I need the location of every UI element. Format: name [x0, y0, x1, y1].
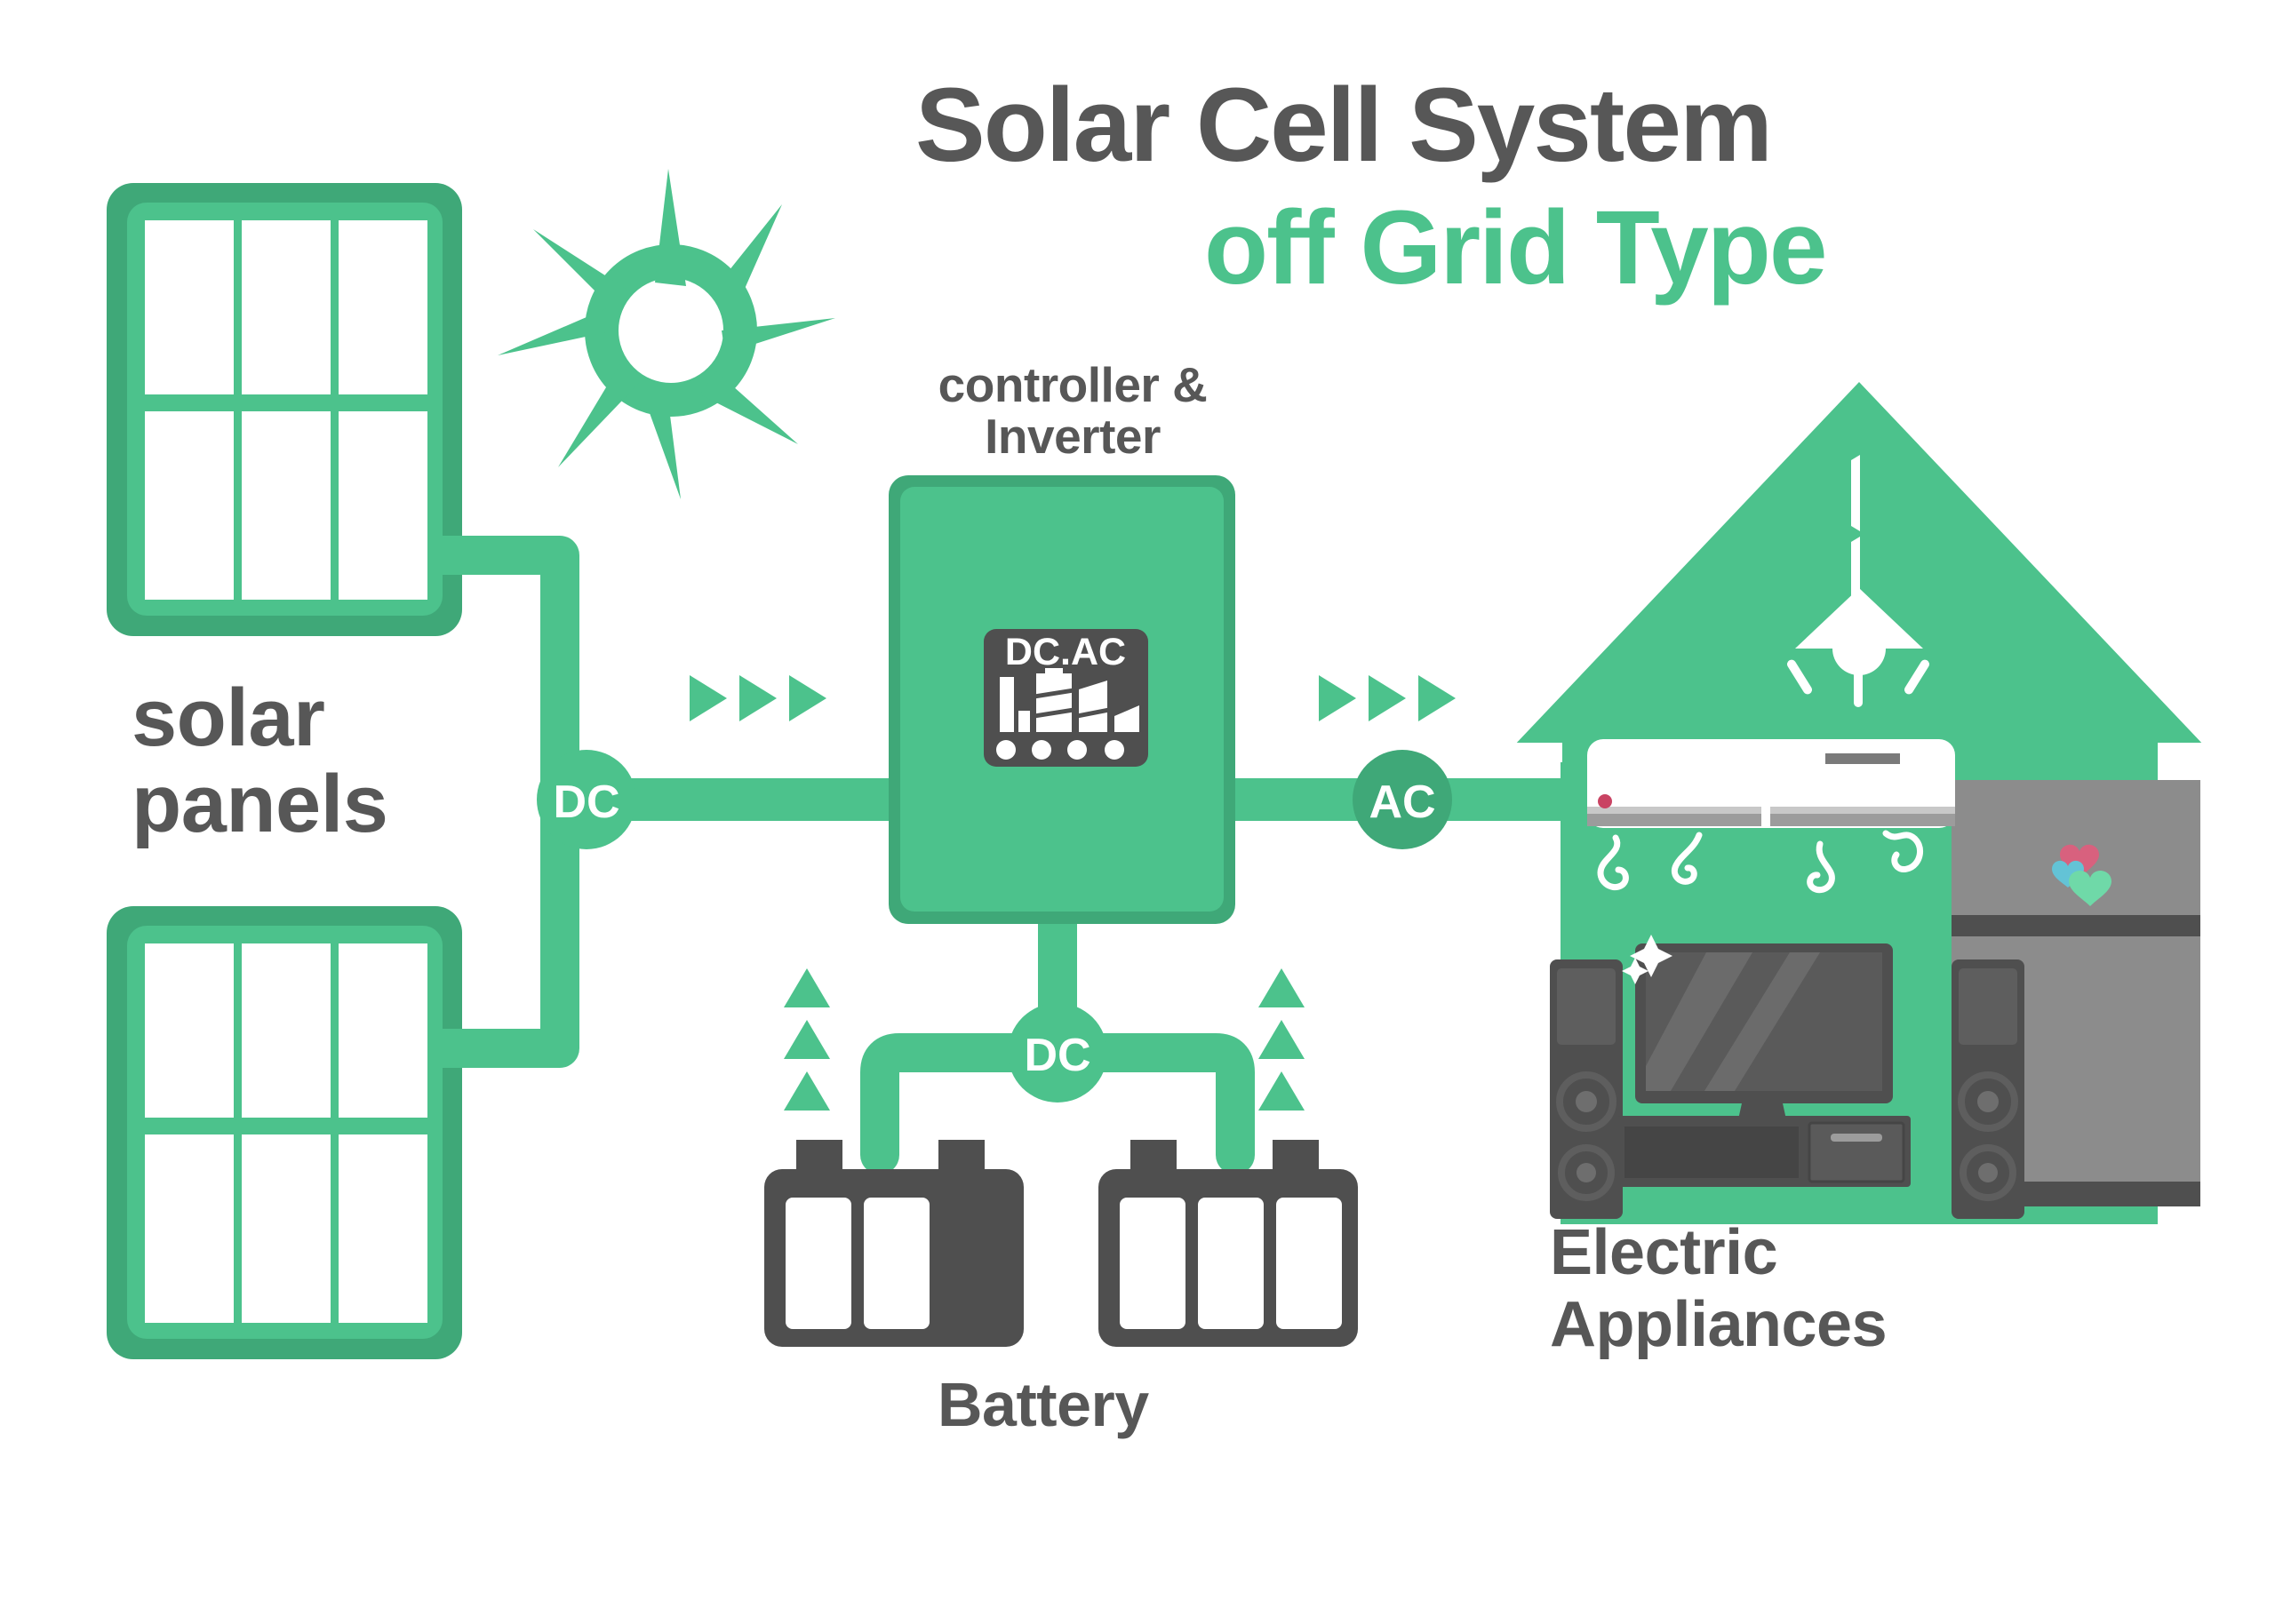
- speaker-icon-right[interactable]: [1952, 959, 2024, 1219]
- battery-icon-right[interactable]: [1098, 1140, 1358, 1347]
- page-subtitle: off Grid Type: [1204, 194, 1825, 304]
- label-controller-inverter: controller & Inverter: [908, 360, 1237, 463]
- arrows-up-icon: [784, 968, 830, 1111]
- battery-icon-left[interactable]: [764, 1140, 1024, 1347]
- svg-text:AC: AC: [1369, 776, 1435, 828]
- ac-output-badge[interactable]: AC: [1353, 750, 1452, 849]
- inverter-icon[interactable]: [889, 475, 1235, 924]
- label-solar-panels: solar panels: [132, 675, 387, 847]
- dc-battery-badge[interactable]: DC: [1008, 1003, 1107, 1103]
- solar-panel-icon-bottom[interactable]: [107, 906, 478, 1359]
- inverter-display-text: DC.AC: [1005, 631, 1126, 673]
- page-title: Solar Cell System: [915, 71, 1771, 181]
- sun-icon: [498, 169, 835, 499]
- speaker-icon-left[interactable]: [1550, 959, 1623, 1219]
- flow-arrows-right-icon-dc: [690, 675, 826, 721]
- label-battery: Battery: [938, 1373, 1149, 1438]
- dc-source-badge[interactable]: DC: [537, 750, 636, 849]
- solar-panel-icon-top[interactable]: [107, 183, 478, 636]
- solar-system-diagram: DC.AC DC AC DC: [0, 0, 2275, 1624]
- svg-text:DC: DC: [1024, 1030, 1090, 1081]
- media-cabinet-icon[interactable]: [1617, 1116, 1911, 1187]
- svg-text:DC: DC: [553, 776, 619, 828]
- label-electric-appliances: Electric Appliances: [1550, 1217, 1887, 1360]
- arrows-down-icon: [1258, 968, 1305, 1111]
- flow-arrows-right-icon-ac: [1319, 675, 1456, 721]
